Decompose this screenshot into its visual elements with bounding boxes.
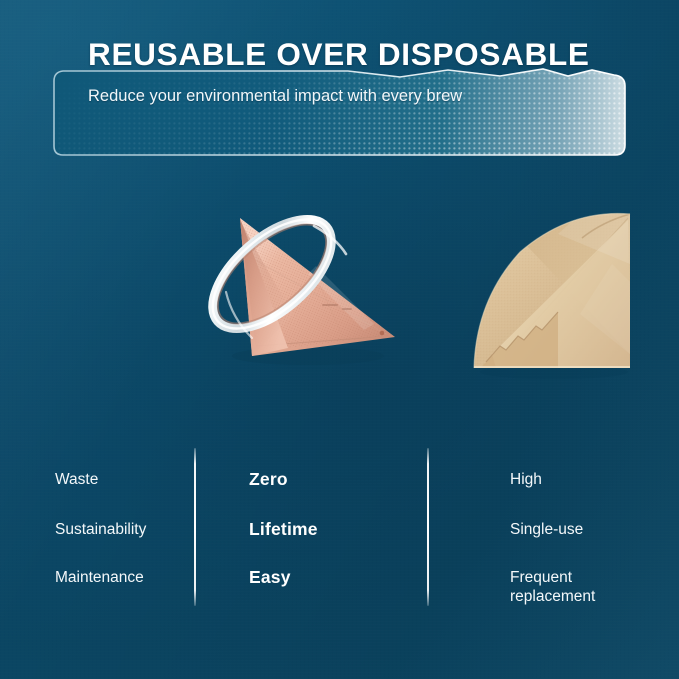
- attribute-label-sustainability: Sustainability: [55, 520, 146, 539]
- disposable-value-waste: High: [510, 470, 542, 489]
- column-divider-2: [427, 448, 429, 606]
- disposable-paper-cone-filter-image: [462, 204, 644, 382]
- page-title: REUSABLE OVER DISPOSABLE: [88, 36, 590, 73]
- reusable-value-sustainability: Lifetime: [249, 520, 318, 539]
- header-banner: [48, 67, 631, 161]
- column-divider-1: [194, 448, 196, 606]
- reusable-value-waste: Zero: [249, 470, 288, 489]
- page-subtitle: Reduce your environmental impact with ev…: [88, 86, 462, 108]
- reusable-value-maintenance: Easy: [249, 568, 291, 587]
- disposable-value-maintenance: Frequent replacement: [510, 568, 595, 606]
- banner-shape: [48, 67, 631, 161]
- attribute-label-maintenance: Maintenance: [55, 568, 144, 587]
- reusable-metal-cone-filter-image: [196, 196, 412, 372]
- attribute-label-waste: Waste: [55, 470, 98, 489]
- promo-graphic: REUSABLE OVER DISPOSABLE Reduce your env…: [0, 0, 679, 679]
- disposable-value-sustainability: Single-use: [510, 520, 583, 539]
